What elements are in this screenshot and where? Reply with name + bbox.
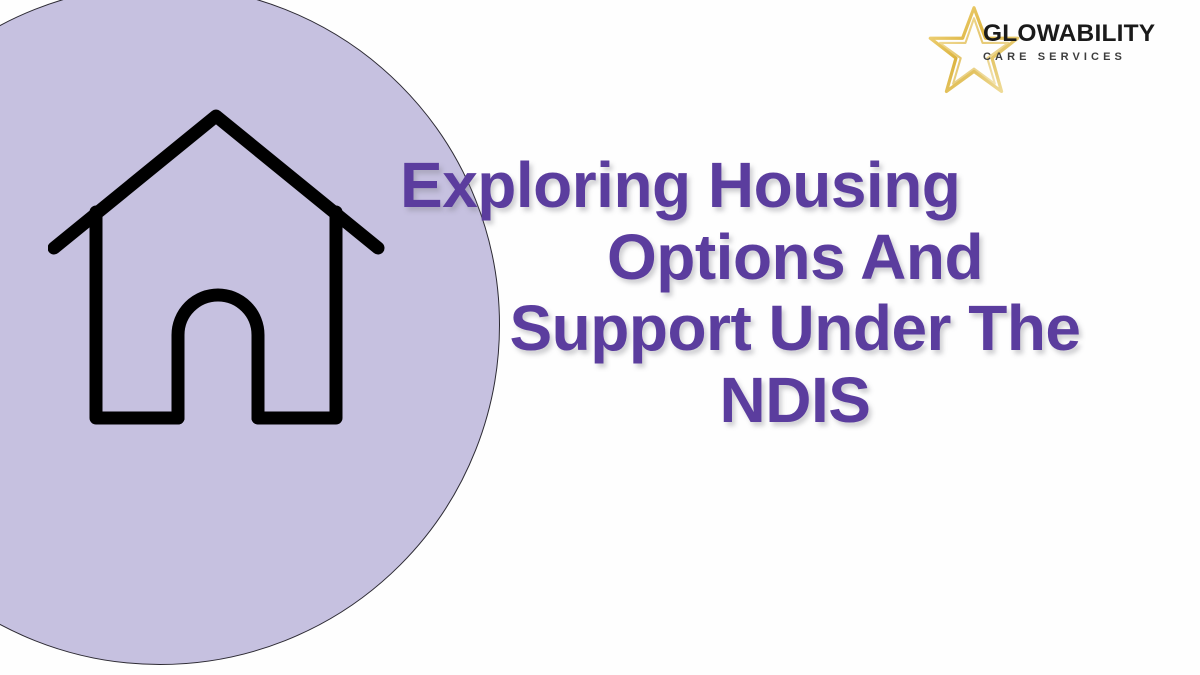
title-line-3: Support Under The xyxy=(400,293,1190,365)
logo-text: GLOWABILITY CARE SERVICES xyxy=(983,22,1178,63)
title-line-2: Options And xyxy=(400,222,1190,294)
logo-tagline: CARE SERVICES xyxy=(983,52,1178,63)
title-line-1: Exploring Housing xyxy=(400,150,1190,222)
house-icon xyxy=(48,108,388,438)
page-title: Exploring Housing Options And Support Un… xyxy=(400,150,1190,437)
brand-logo: GLOWABILITY CARE SERVICES xyxy=(925,2,1175,102)
slide-canvas: GLOWABILITY CARE SERVICES Exploring Hous… xyxy=(0,0,1200,675)
logo-brand-name: GLOWABILITY xyxy=(983,22,1178,47)
title-line-4: NDIS xyxy=(400,365,1190,437)
